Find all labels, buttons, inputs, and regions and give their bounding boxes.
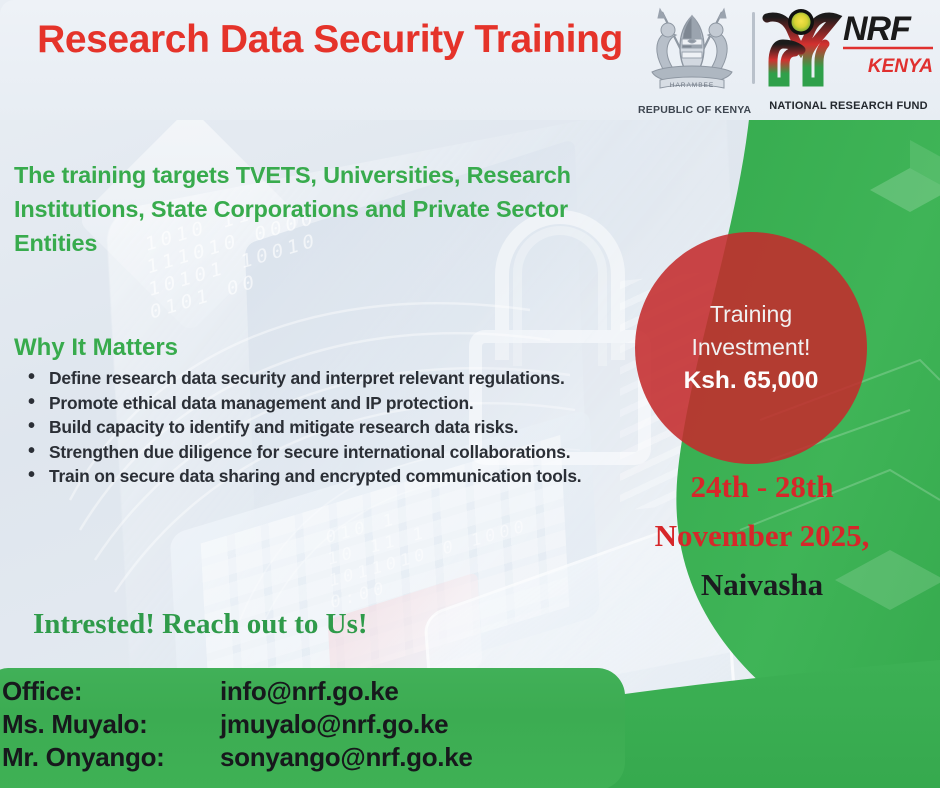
nrf-logo: NRF KENYA NATIONAL RESEARCH FUND (761, 6, 936, 112)
contact-email[interactable]: jmuyalo@nrf.go.ke (220, 709, 448, 740)
nrf-logo-icon: NRF KENYA (761, 6, 936, 94)
investment-label-line2: Investment! (692, 331, 811, 364)
coat-of-arms-label: REPUBLIC OF KENYA (638, 104, 746, 116)
contact-row: Mr. Onyango: sonyango@nrf.go.ke (2, 742, 625, 775)
poster-canvas: 1010 11 111010 0000 10101 10010 0101 00 … (0, 0, 940, 788)
contact-label: Ms. Muyalo: (2, 709, 220, 740)
investment-label-line1: Training (710, 298, 792, 331)
event-date-block: 24th - 28th November 2025, Naivasha (612, 462, 912, 609)
list-item: Define research data security and interp… (24, 368, 644, 390)
contact-row: Office: info@nrf.go.ke (2, 676, 625, 709)
contact-row: Ms. Muyalo: jmuyalo@nrf.go.ke (2, 709, 625, 742)
list-item: Build capacity to identify and mitigate … (24, 417, 644, 439)
call-to-action-text: Intrested! Reach out to Us! (33, 608, 368, 641)
contact-email[interactable]: sonyango@nrf.go.ke (220, 742, 473, 773)
page-title: Research Data Security Training (0, 14, 660, 66)
coat-of-arms-icon: HARAMBEE (638, 6, 746, 98)
event-dates: 24th - 28th (612, 462, 912, 511)
contact-email[interactable]: info@nrf.go.ke (220, 676, 399, 707)
investment-amount: Ksh. 65,000 (684, 364, 819, 398)
training-investment-badge: Training Investment! Ksh. 65,000 (635, 232, 867, 464)
poster-header: Research Data Security Training (0, 0, 940, 120)
event-month-year: November 2025, (612, 511, 912, 560)
svg-text:NRF: NRF (843, 10, 912, 48)
contact-label: Office: (2, 676, 220, 707)
list-item: Promote ethical data management and IP p… (24, 393, 644, 415)
why-it-matters-heading: Why It Matters (14, 334, 178, 362)
target-audience-text: The training targets TVETS, Universities… (14, 158, 624, 260)
contact-label: Mr. Onyango: (2, 742, 220, 773)
list-item: Train on secure data sharing and encrypt… (24, 466, 644, 488)
nrf-country-text: KENYA (868, 56, 933, 77)
kenya-coat-of-arms: HARAMBEE REPUBLIC OF KENYA (638, 6, 746, 116)
logo-group: HARAMBEE REPUBLIC OF KENYA (638, 6, 936, 118)
why-it-matters-list: Define research data security and interp… (24, 368, 644, 491)
list-item: Strengthen due diligence for secure inte… (24, 442, 644, 464)
svg-text:HARAMBEE: HARAMBEE (670, 82, 714, 89)
event-venue: Naivasha (612, 560, 912, 609)
contact-box: Office: info@nrf.go.ke Ms. Muyalo: jmuya… (0, 668, 625, 788)
nrf-logo-label: NATIONAL RESEARCH FUND (761, 100, 936, 112)
logo-divider (752, 12, 755, 84)
